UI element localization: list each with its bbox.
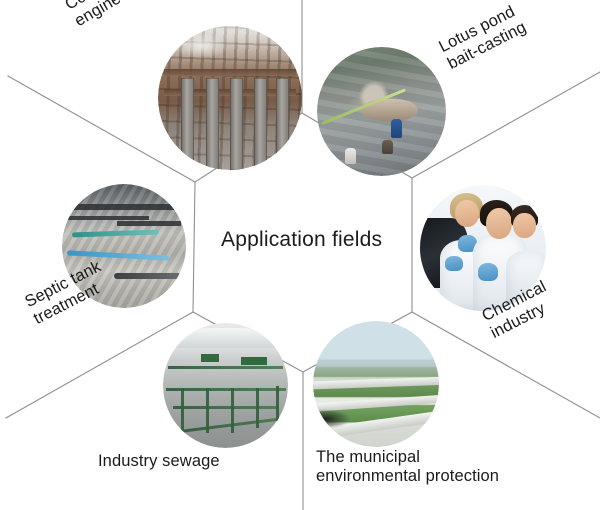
lotus-photo-inner (317, 47, 446, 176)
photo-industry-sewage[interactable] (163, 323, 288, 448)
center-title: Application fields (221, 228, 382, 252)
photo-municipal-environmental-protection[interactable] (313, 321, 439, 447)
photo-lotus-pond-bait-casting[interactable] (317, 47, 446, 176)
municipal-photo-inner (313, 321, 439, 447)
sewage-photo-inner (163, 323, 288, 448)
label-industry-sewage: Industry sewage (98, 452, 220, 471)
application-fields-infographic: Constructional engineering Lotus pond ba… (0, 0, 600, 510)
photo-constructional-engineering[interactable] (158, 26, 302, 170)
construction-photo-inner (158, 26, 302, 170)
label-municipal-environmental-protection: The municipal environmental protection (316, 448, 499, 487)
